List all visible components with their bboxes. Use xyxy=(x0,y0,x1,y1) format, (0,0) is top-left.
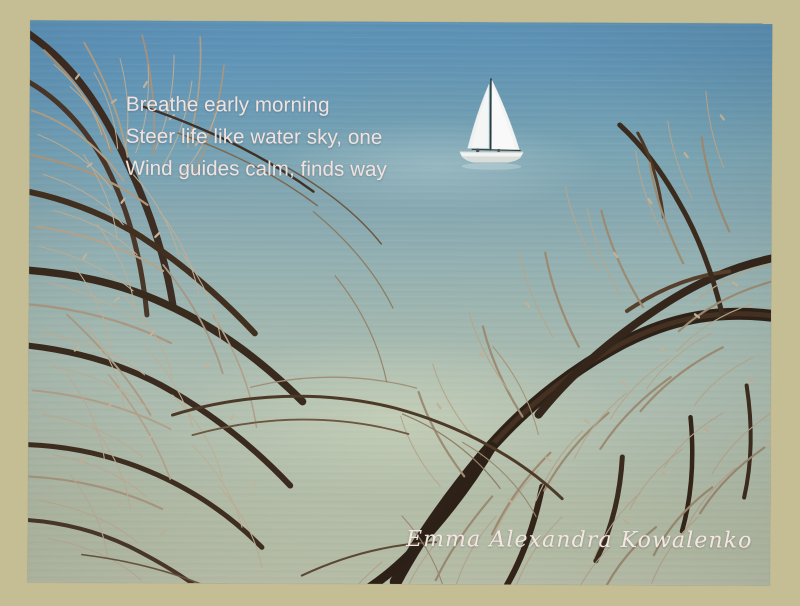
artist-signature: Emma Alexandra Kowalenko xyxy=(406,527,753,554)
photo-card-frame: Breathe early morning Steer life like wa… xyxy=(0,0,800,606)
haiku-text-block: Breathe early morning Steer life like wa… xyxy=(126,89,388,186)
haiku-line-1: Breathe early morning xyxy=(126,89,387,122)
photograph: Breathe early morning Steer life like wa… xyxy=(28,20,772,585)
haiku-line-2: Steer life like water sky, one xyxy=(126,121,387,154)
haiku-line-3: Wind guides calm, finds way xyxy=(126,153,387,186)
